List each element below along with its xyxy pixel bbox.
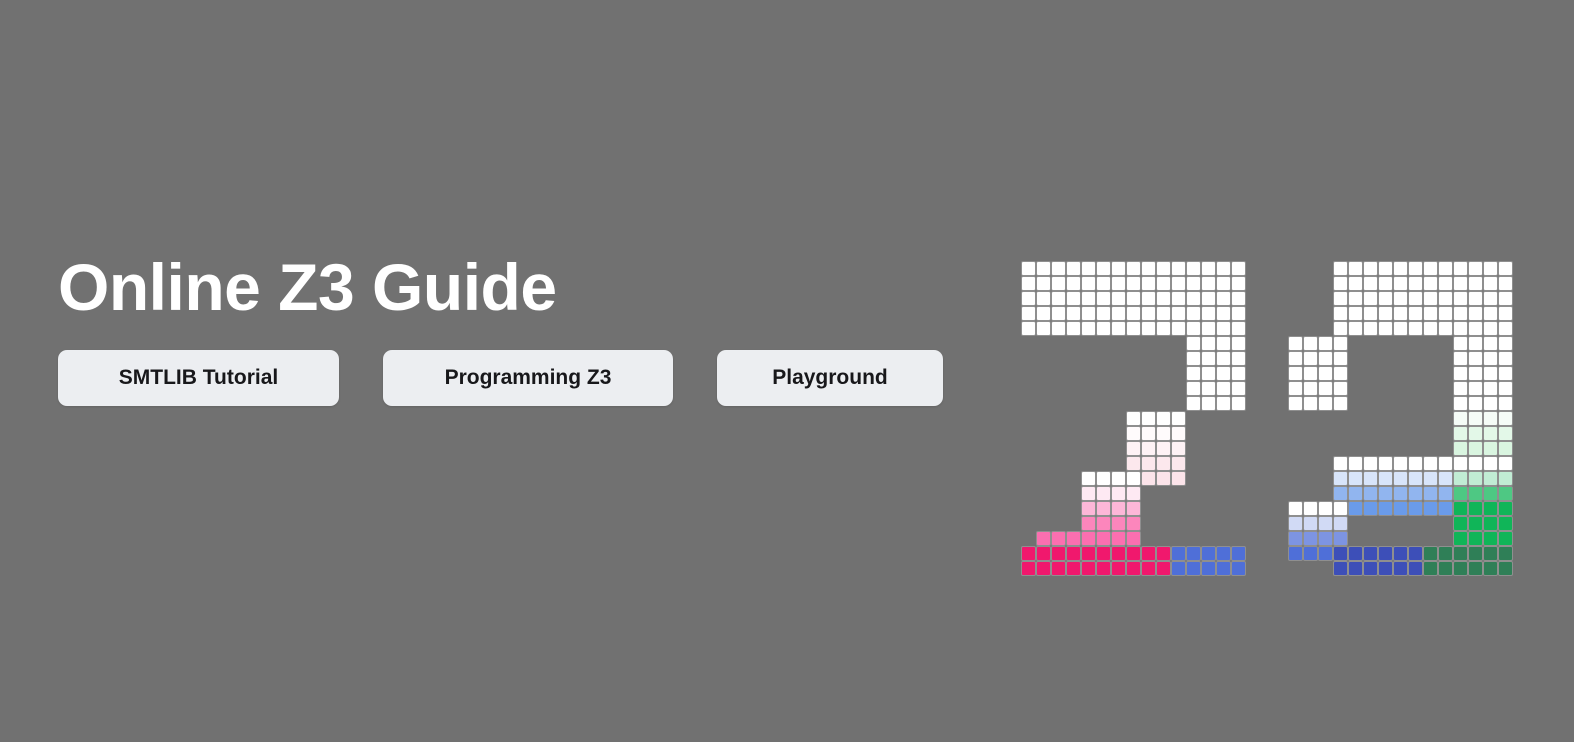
- logo-cell: [1186, 276, 1201, 291]
- logo-cell: [1021, 546, 1036, 561]
- logo-cell: [1378, 426, 1393, 441]
- logo-cell: [1363, 336, 1378, 351]
- logo-cell: [1438, 306, 1453, 321]
- logo-cell: [1453, 276, 1468, 291]
- logo-cell: [1036, 306, 1051, 321]
- logo-cell: [1096, 291, 1111, 306]
- logo-cell: [1423, 336, 1438, 351]
- logo-cell: [1111, 561, 1126, 576]
- logo-cell: [1483, 441, 1498, 456]
- z3-pixel-logo: [1021, 261, 1521, 586]
- logo-cell: [1303, 486, 1318, 501]
- logo-cell: [1186, 321, 1201, 336]
- logo-cell: [1333, 441, 1348, 456]
- logo-cell: [1156, 336, 1171, 351]
- logo-cell: [1303, 501, 1318, 516]
- logo-cell: [1408, 441, 1423, 456]
- logo-cell: [1126, 381, 1141, 396]
- logo-cell: [1318, 531, 1333, 546]
- logo-cell: [1408, 546, 1423, 561]
- page-title: Online Z3 Guide: [58, 254, 958, 320]
- logo-cell: [1231, 441, 1246, 456]
- logo-cell: [1318, 501, 1333, 516]
- logo-cell: [1363, 531, 1378, 546]
- logo-cell: [1468, 501, 1483, 516]
- logo-cell: [1303, 426, 1318, 441]
- logo-cell: [1156, 516, 1171, 531]
- logo-cell: [1438, 546, 1453, 561]
- logo-cell: [1201, 381, 1216, 396]
- logo-cell: [1348, 261, 1363, 276]
- logo-cell: [1348, 351, 1363, 366]
- logo-cell: [1096, 411, 1111, 426]
- logo-cell: [1141, 531, 1156, 546]
- logo-cell: [1378, 351, 1393, 366]
- logo-cell: [1483, 381, 1498, 396]
- logo-cell: [1231, 396, 1246, 411]
- logo-cell: [1066, 546, 1081, 561]
- logo-cell: [1498, 471, 1513, 486]
- logo-cell: [1021, 561, 1036, 576]
- logo-cell: [1096, 366, 1111, 381]
- logo-cell: [1348, 471, 1363, 486]
- logo-cell: [1333, 336, 1348, 351]
- logo-cell: [1156, 456, 1171, 471]
- logo-cell: [1171, 306, 1186, 321]
- logo-cell: [1408, 321, 1423, 336]
- logo-cell: [1141, 261, 1156, 276]
- logo-cell: [1468, 546, 1483, 561]
- logo-cell: [1081, 471, 1096, 486]
- logo-cell: [1288, 516, 1303, 531]
- logo-glyph-z: [1021, 261, 1246, 576]
- logo-cell: [1096, 381, 1111, 396]
- logo-cell: [1483, 276, 1498, 291]
- logo-cell: [1438, 351, 1453, 366]
- logo-cell: [1096, 336, 1111, 351]
- logo-cell: [1453, 531, 1468, 546]
- logo-cell: [1201, 456, 1216, 471]
- logo-cell: [1423, 396, 1438, 411]
- logo-cell: [1081, 321, 1096, 336]
- logo-cell: [1378, 531, 1393, 546]
- logo-cell: [1363, 306, 1378, 321]
- logo-cell: [1318, 261, 1333, 276]
- logo-cell: [1498, 441, 1513, 456]
- logo-cell: [1393, 471, 1408, 486]
- logo-cell: [1333, 366, 1348, 381]
- logo-cell: [1408, 561, 1423, 576]
- logo-cell: [1021, 486, 1036, 501]
- logo-cell: [1378, 411, 1393, 426]
- logo-cell: [1081, 456, 1096, 471]
- logo-cell: [1126, 516, 1141, 531]
- logo-cell: [1036, 471, 1051, 486]
- logo-cell: [1363, 366, 1378, 381]
- logo-cell: [1468, 396, 1483, 411]
- logo-cell: [1036, 321, 1051, 336]
- logo-cell: [1156, 486, 1171, 501]
- logo-cell: [1348, 486, 1363, 501]
- logo-cell: [1171, 516, 1186, 531]
- logo-cell: [1231, 321, 1246, 336]
- logo-cell: [1408, 366, 1423, 381]
- logo-cell: [1051, 441, 1066, 456]
- logo-cell: [1483, 396, 1498, 411]
- logo-cell: [1216, 486, 1231, 501]
- logo-cell: [1066, 321, 1081, 336]
- logo-cell: [1156, 366, 1171, 381]
- logo-cell: [1393, 546, 1408, 561]
- logo-cell: [1126, 411, 1141, 426]
- logo-cell: [1186, 366, 1201, 381]
- logo-cell: [1408, 516, 1423, 531]
- logo-cell: [1393, 351, 1408, 366]
- logo-cell: [1201, 291, 1216, 306]
- logo-cell: [1051, 351, 1066, 366]
- logo-cell: [1141, 396, 1156, 411]
- logo-cell: [1216, 516, 1231, 531]
- logo-cell: [1021, 411, 1036, 426]
- logo-cell: [1201, 276, 1216, 291]
- logo-cell: [1468, 261, 1483, 276]
- smtlib-tutorial-button[interactable]: SMTLIB Tutorial: [58, 350, 339, 406]
- logo-cell: [1141, 381, 1156, 396]
- logo-cell: [1141, 441, 1156, 456]
- logo-cell: [1036, 336, 1051, 351]
- logo-cell: [1333, 426, 1348, 441]
- logo-cell: [1051, 531, 1066, 546]
- logo-cell: [1081, 291, 1096, 306]
- logo-cell: [1081, 516, 1096, 531]
- logo-cell: [1483, 546, 1498, 561]
- logo-cell: [1498, 531, 1513, 546]
- logo-cell: [1066, 306, 1081, 321]
- logo-cell: [1318, 336, 1333, 351]
- logo-cell: [1156, 276, 1171, 291]
- logo-cell: [1498, 411, 1513, 426]
- logo-cell: [1201, 396, 1216, 411]
- logo-cell: [1021, 366, 1036, 381]
- logo-cell: [1111, 291, 1126, 306]
- logo-cell: [1186, 306, 1201, 321]
- logo-cell: [1363, 426, 1378, 441]
- logo-cell: [1378, 516, 1393, 531]
- logo-cell: [1318, 321, 1333, 336]
- logo-cell: [1498, 456, 1513, 471]
- logo-cell: [1066, 441, 1081, 456]
- logo-cell: [1363, 261, 1378, 276]
- logo-cell: [1186, 396, 1201, 411]
- logo-cell: [1393, 276, 1408, 291]
- logo-cell: [1348, 501, 1363, 516]
- logo-cell: [1318, 516, 1333, 531]
- logo-cell: [1141, 516, 1156, 531]
- logo-cell: [1111, 546, 1126, 561]
- logo-cell: [1126, 261, 1141, 276]
- logo-cell: [1201, 411, 1216, 426]
- logo-cell: [1126, 321, 1141, 336]
- logo-cell: [1393, 501, 1408, 516]
- logo-cell: [1126, 501, 1141, 516]
- logo-cell: [1126, 366, 1141, 381]
- logo-cell: [1141, 456, 1156, 471]
- logo-cell: [1216, 531, 1231, 546]
- logo-cell: [1201, 261, 1216, 276]
- logo-cell: [1348, 456, 1363, 471]
- logo-cell: [1066, 561, 1081, 576]
- logo-cell: [1408, 396, 1423, 411]
- logo-cell: [1231, 351, 1246, 366]
- logo-cell: [1231, 366, 1246, 381]
- logo-cell: [1051, 456, 1066, 471]
- logo-cell: [1171, 501, 1186, 516]
- logo-cell: [1453, 486, 1468, 501]
- logo-cell: [1303, 321, 1318, 336]
- logo-cell: [1081, 336, 1096, 351]
- logo-cell: [1348, 531, 1363, 546]
- logo-cell: [1363, 561, 1378, 576]
- logo-cell: [1393, 306, 1408, 321]
- logo-cell: [1111, 321, 1126, 336]
- logo-cell: [1036, 441, 1051, 456]
- logo-cell: [1216, 501, 1231, 516]
- logo-cell: [1066, 501, 1081, 516]
- logo-cell: [1126, 426, 1141, 441]
- logo-cell: [1066, 261, 1081, 276]
- logo-cell: [1348, 381, 1363, 396]
- logo-cell: [1438, 561, 1453, 576]
- logo-cell: [1348, 336, 1363, 351]
- logo-cell: [1378, 471, 1393, 486]
- logo-cell: [1303, 351, 1318, 366]
- playground-button[interactable]: Playground: [717, 350, 943, 406]
- logo-cell: [1303, 471, 1318, 486]
- logo-cell: [1036, 396, 1051, 411]
- logo-cell: [1111, 381, 1126, 396]
- logo-cell: [1378, 441, 1393, 456]
- logo-cell: [1453, 396, 1468, 411]
- logo-cell: [1096, 351, 1111, 366]
- logo-cell: [1333, 351, 1348, 366]
- logo-cell: [1333, 306, 1348, 321]
- logo-cell: [1438, 366, 1453, 381]
- logo-cell: [1393, 441, 1408, 456]
- logo-cell: [1066, 351, 1081, 366]
- logo-cell: [1318, 306, 1333, 321]
- logo-cell: [1438, 486, 1453, 501]
- logo-cell: [1303, 306, 1318, 321]
- logo-cell: [1156, 411, 1171, 426]
- logo-cell: [1021, 276, 1036, 291]
- logo-cell: [1453, 321, 1468, 336]
- logo-cell: [1111, 306, 1126, 321]
- logo-cell: [1171, 321, 1186, 336]
- logo-cell: [1378, 306, 1393, 321]
- logo-cell: [1393, 381, 1408, 396]
- logo-cell: [1453, 456, 1468, 471]
- logo-cell: [1201, 426, 1216, 441]
- logo-cell: [1483, 366, 1498, 381]
- logo-cell: [1348, 291, 1363, 306]
- logo-cell: [1333, 411, 1348, 426]
- logo-cell: [1126, 351, 1141, 366]
- logo-cell: [1288, 261, 1303, 276]
- logo-cell: [1021, 426, 1036, 441]
- logo-cell: [1141, 486, 1156, 501]
- logo-cell: [1036, 291, 1051, 306]
- logo-cell: [1096, 486, 1111, 501]
- logo-cell: [1036, 516, 1051, 531]
- logo-cell: [1438, 261, 1453, 276]
- logo-cell: [1021, 441, 1036, 456]
- logo-cell: [1498, 516, 1513, 531]
- logo-cell: [1111, 411, 1126, 426]
- logo-cell: [1498, 396, 1513, 411]
- logo-cell: [1201, 546, 1216, 561]
- logo-cell: [1126, 291, 1141, 306]
- logo-cell: [1423, 561, 1438, 576]
- logo-cell: [1021, 531, 1036, 546]
- logo-cell: [1081, 546, 1096, 561]
- logo-cell: [1036, 261, 1051, 276]
- logo-cell: [1378, 366, 1393, 381]
- logo-cell: [1423, 441, 1438, 456]
- logo-cell: [1348, 546, 1363, 561]
- logo-cell: [1231, 276, 1246, 291]
- logo-cell: [1483, 456, 1498, 471]
- logo-cell: [1333, 291, 1348, 306]
- logo-cell: [1303, 516, 1318, 531]
- logo-cell: [1333, 261, 1348, 276]
- logo-cell: [1201, 531, 1216, 546]
- logo-cell: [1288, 411, 1303, 426]
- logo-cell: [1423, 546, 1438, 561]
- logo-cell: [1498, 561, 1513, 576]
- logo-cell: [1051, 291, 1066, 306]
- logo-cell: [1126, 396, 1141, 411]
- logo-cell: [1051, 306, 1066, 321]
- logo-cell: [1393, 291, 1408, 306]
- logo-cell: [1483, 291, 1498, 306]
- logo-cell: [1348, 411, 1363, 426]
- logo-cell: [1096, 471, 1111, 486]
- logo-cell: [1021, 291, 1036, 306]
- logo-cell: [1423, 276, 1438, 291]
- logo-cell: [1438, 426, 1453, 441]
- logo-cell: [1483, 561, 1498, 576]
- logo-cell: [1378, 291, 1393, 306]
- logo-cell: [1156, 306, 1171, 321]
- logo-cell: [1051, 426, 1066, 441]
- logo-cell: [1483, 336, 1498, 351]
- logo-cell: [1051, 561, 1066, 576]
- logo-cell: [1126, 486, 1141, 501]
- logo-cell: [1378, 501, 1393, 516]
- logo-cell: [1438, 381, 1453, 396]
- logo-cell: [1468, 486, 1483, 501]
- logo-cell: [1096, 441, 1111, 456]
- logo-cell: [1498, 366, 1513, 381]
- logo-cell: [1066, 426, 1081, 441]
- logo-cell: [1081, 306, 1096, 321]
- logo-cell: [1051, 396, 1066, 411]
- logo-cell: [1378, 381, 1393, 396]
- logo-cell: [1378, 276, 1393, 291]
- logo-cell: [1141, 321, 1156, 336]
- logo-cell: [1171, 351, 1186, 366]
- logo-cell: [1333, 471, 1348, 486]
- logo-cell: [1171, 441, 1186, 456]
- logo-cell: [1318, 486, 1333, 501]
- logo-cell: [1348, 306, 1363, 321]
- programming-z3-button[interactable]: Programming Z3: [383, 350, 673, 406]
- logo-cell: [1066, 396, 1081, 411]
- logo-cell: [1408, 456, 1423, 471]
- logo-cell: [1303, 366, 1318, 381]
- logo-cell: [1423, 306, 1438, 321]
- logo-cell: [1378, 396, 1393, 411]
- logo-cell: [1186, 411, 1201, 426]
- logo-cell: [1096, 531, 1111, 546]
- logo-cell: [1318, 426, 1333, 441]
- logo-cell: [1231, 411, 1246, 426]
- logo-cell: [1156, 501, 1171, 516]
- logo-cell: [1453, 336, 1468, 351]
- logo-cell: [1438, 441, 1453, 456]
- logo-cell: [1111, 531, 1126, 546]
- logo-cell: [1438, 456, 1453, 471]
- logo-cell: [1453, 441, 1468, 456]
- logo-cell: [1216, 336, 1231, 351]
- logo-cell: [1171, 411, 1186, 426]
- logo-cell: [1303, 561, 1318, 576]
- logo-cell: [1216, 471, 1231, 486]
- logo-cell: [1141, 366, 1156, 381]
- logo-cell: [1021, 396, 1036, 411]
- logo-cell: [1096, 546, 1111, 561]
- logo-cell: [1333, 396, 1348, 411]
- logo-cell: [1333, 501, 1348, 516]
- logo-cell: [1303, 381, 1318, 396]
- logo-cell: [1303, 441, 1318, 456]
- logo-cell: [1216, 456, 1231, 471]
- logo-cell: [1318, 276, 1333, 291]
- logo-cell: [1483, 471, 1498, 486]
- logo-cell: [1231, 291, 1246, 306]
- logo-cell: [1333, 381, 1348, 396]
- logo-cell: [1318, 546, 1333, 561]
- logo-cell: [1438, 531, 1453, 546]
- logo-cell: [1066, 291, 1081, 306]
- logo-cell: [1021, 351, 1036, 366]
- logo-cell: [1288, 471, 1303, 486]
- logo-cell: [1318, 381, 1333, 396]
- logo-cell: [1051, 336, 1066, 351]
- logo-cell: [1066, 486, 1081, 501]
- logo-cell: [1051, 381, 1066, 396]
- logo-cell: [1186, 516, 1201, 531]
- logo-cell: [1216, 321, 1231, 336]
- logo-cell: [1288, 426, 1303, 441]
- logo-cell: [1171, 561, 1186, 576]
- logo-cell: [1186, 501, 1201, 516]
- logo-cell: [1468, 411, 1483, 426]
- logo-cell: [1498, 336, 1513, 351]
- logo-cell: [1231, 426, 1246, 441]
- logo-cell: [1096, 561, 1111, 576]
- logo-cell: [1231, 456, 1246, 471]
